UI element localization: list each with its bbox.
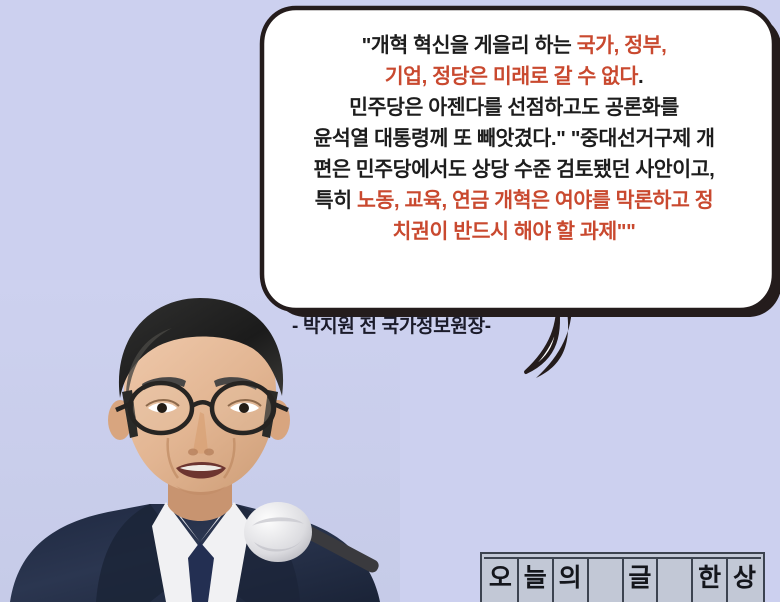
quote-line-5-seg-1: 편은 민주당에서도 상당 수준 검토됐던 사안이고, <box>314 158 715 181</box>
quote-line-3-seg-1: 민주당은 아젠다를 선점하고도 공론화를 <box>349 96 679 119</box>
quote-line-5: 편은 민주당에서도 상당 수준 검토됐던 사안이고, <box>262 154 766 185</box>
grid-cell <box>587 559 622 602</box>
grid-cell: 상 <box>726 559 761 602</box>
quote-attribution: - 박지원 전 국가정보원장- <box>292 311 491 338</box>
quote-line-2: 기업, 정당은 미래로 갈 수 없다. <box>262 61 766 92</box>
grid-cell: 글 <box>622 559 657 602</box>
quote-line-4-seg-1: 윤석열 대통령께 또 빼앗겼다." "중대선거구제 개 <box>313 127 714 150</box>
manuscript-grid-caption: 오 늘 의 글 한 상 <box>480 552 765 602</box>
quote-line-7-seg-1: 치권이 반드시 해야 할 과제"" <box>393 220 636 243</box>
grid-cell: 오 <box>484 559 517 602</box>
quote-line-4: 윤석열 대통령께 또 빼앗겼다." "중대선거구제 개 <box>262 123 766 154</box>
quote-text-block: "개혁 혁신을 게을리 하는 국가, 정부, 기업, 정당은 미래로 갈 수 없… <box>262 30 766 247</box>
manuscript-grid-row: 오 늘 의 글 한 상 <box>484 557 761 602</box>
quote-line-1: "개혁 혁신을 게을리 하는 국가, 정부, <box>262 30 766 61</box>
quote-line-7: 치권이 반드시 해야 할 과제"" <box>262 216 766 247</box>
quote-line-2-seg-2: . <box>638 65 643 88</box>
quote-line-6: 특히 노동, 교육, 연금 개혁은 여야를 막론하고 정 <box>262 185 766 216</box>
quote-line-6-seg-2: 노동, 교육, 연금 개혁은 여야를 막론하고 정 <box>357 189 713 212</box>
quote-line-6-seg-1: 특히 <box>315 189 357 212</box>
quote-line-1-seg-1: "개혁 혁신을 게을리 하는 <box>362 34 577 57</box>
quote-line-2-seg-1: 기업, 정당은 미래로 갈 수 없다 <box>385 65 638 88</box>
quote-line-1-seg-2: 국가, 정부, <box>577 34 667 57</box>
card-news-canvas: "개혁 혁신을 게을리 하는 국가, 정부, 기업, 정당은 미래로 갈 수 없… <box>0 0 780 602</box>
grid-cell: 한 <box>691 559 726 602</box>
grid-cell <box>656 559 691 602</box>
quote-line-3: 민주당은 아젠다를 선점하고도 공론화를 <box>262 92 766 123</box>
grid-cell: 의 <box>552 559 587 602</box>
grid-cell: 늘 <box>517 559 552 602</box>
